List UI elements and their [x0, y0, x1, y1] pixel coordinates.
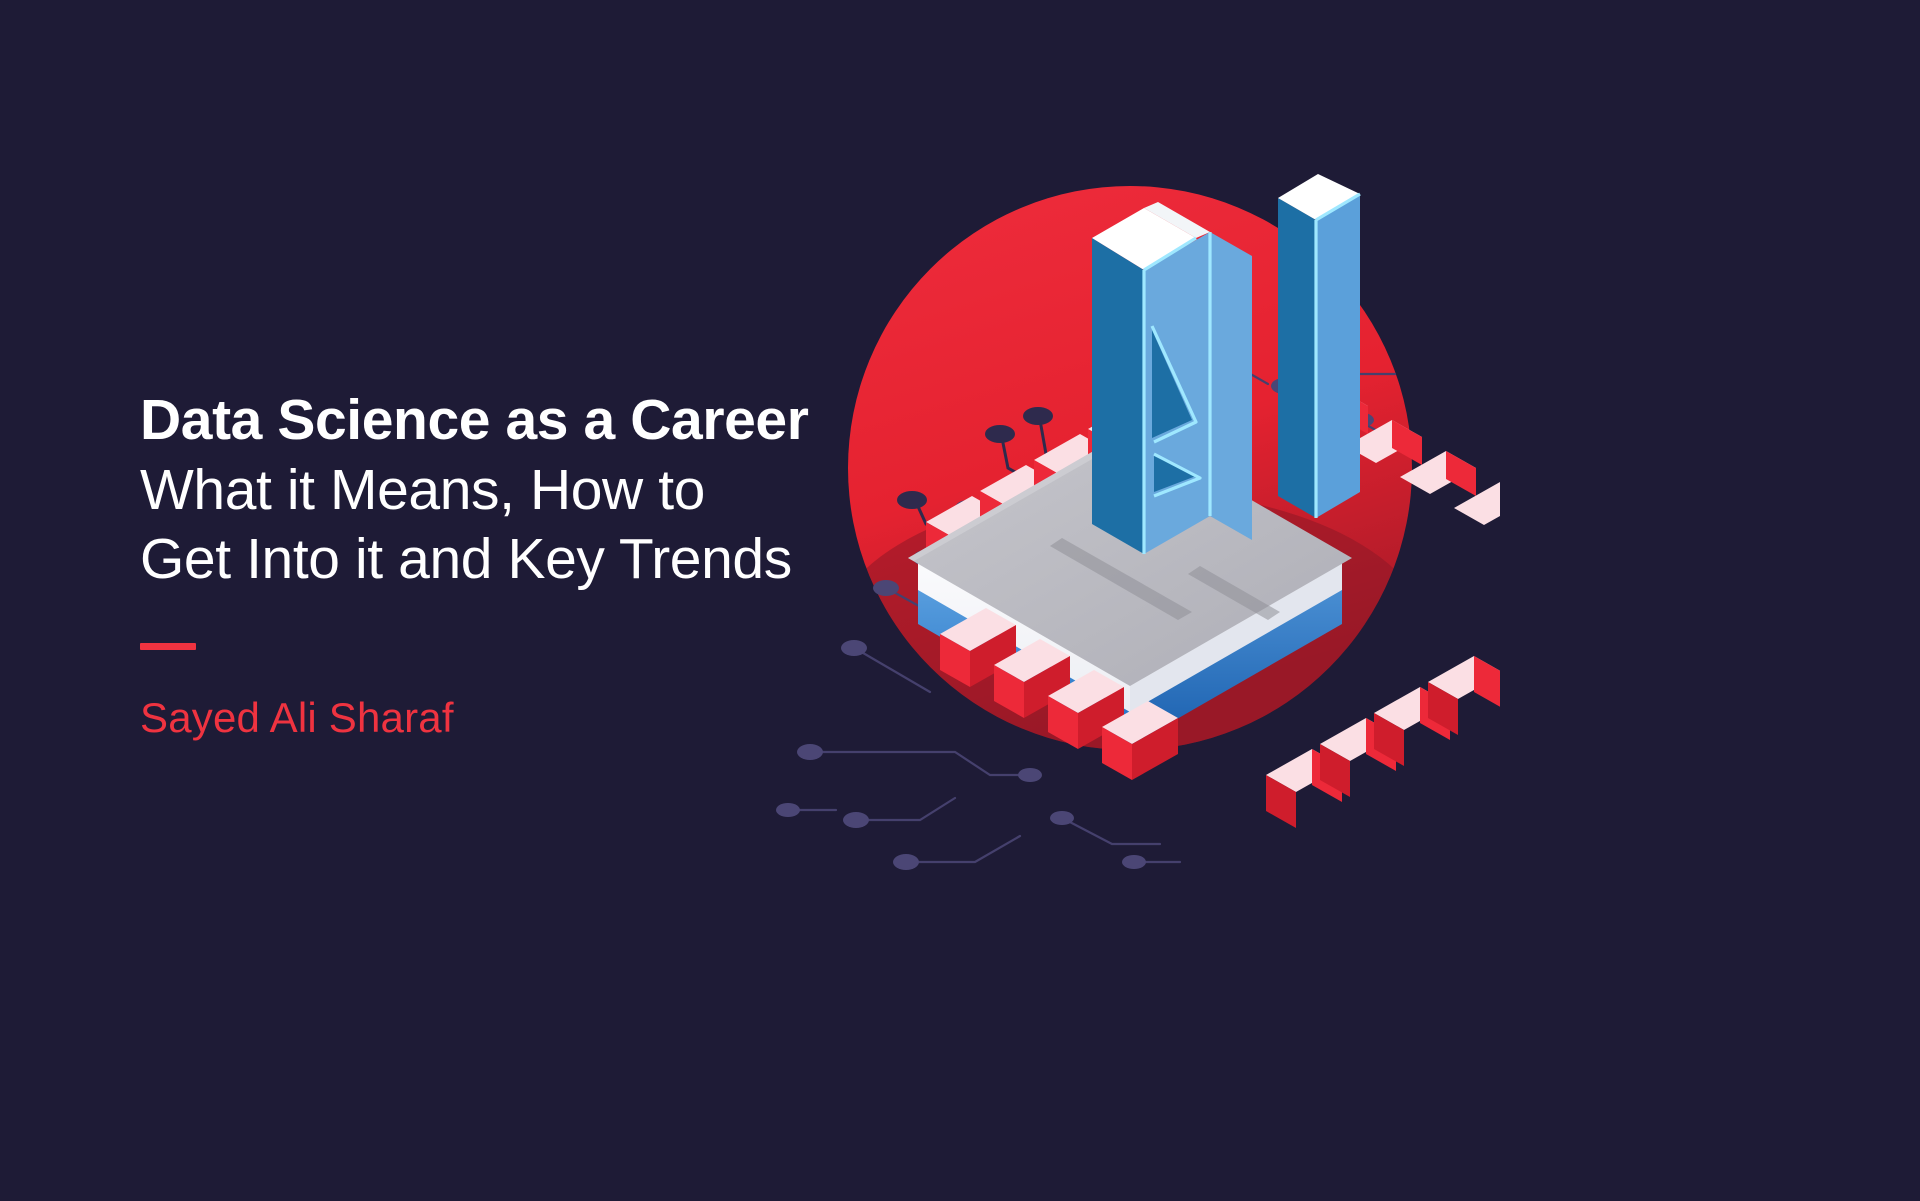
circuit-trace-dots-bottom	[1050, 811, 1146, 869]
slide-root: Data Science as a Career What it Means, …	[0, 0, 1920, 1201]
circuit-traces-bottom	[1066, 820, 1180, 862]
ai-chip-illustration	[740, 120, 1500, 880]
accent-rule-divider	[140, 643, 196, 650]
ai-chip-svg	[740, 120, 1500, 880]
